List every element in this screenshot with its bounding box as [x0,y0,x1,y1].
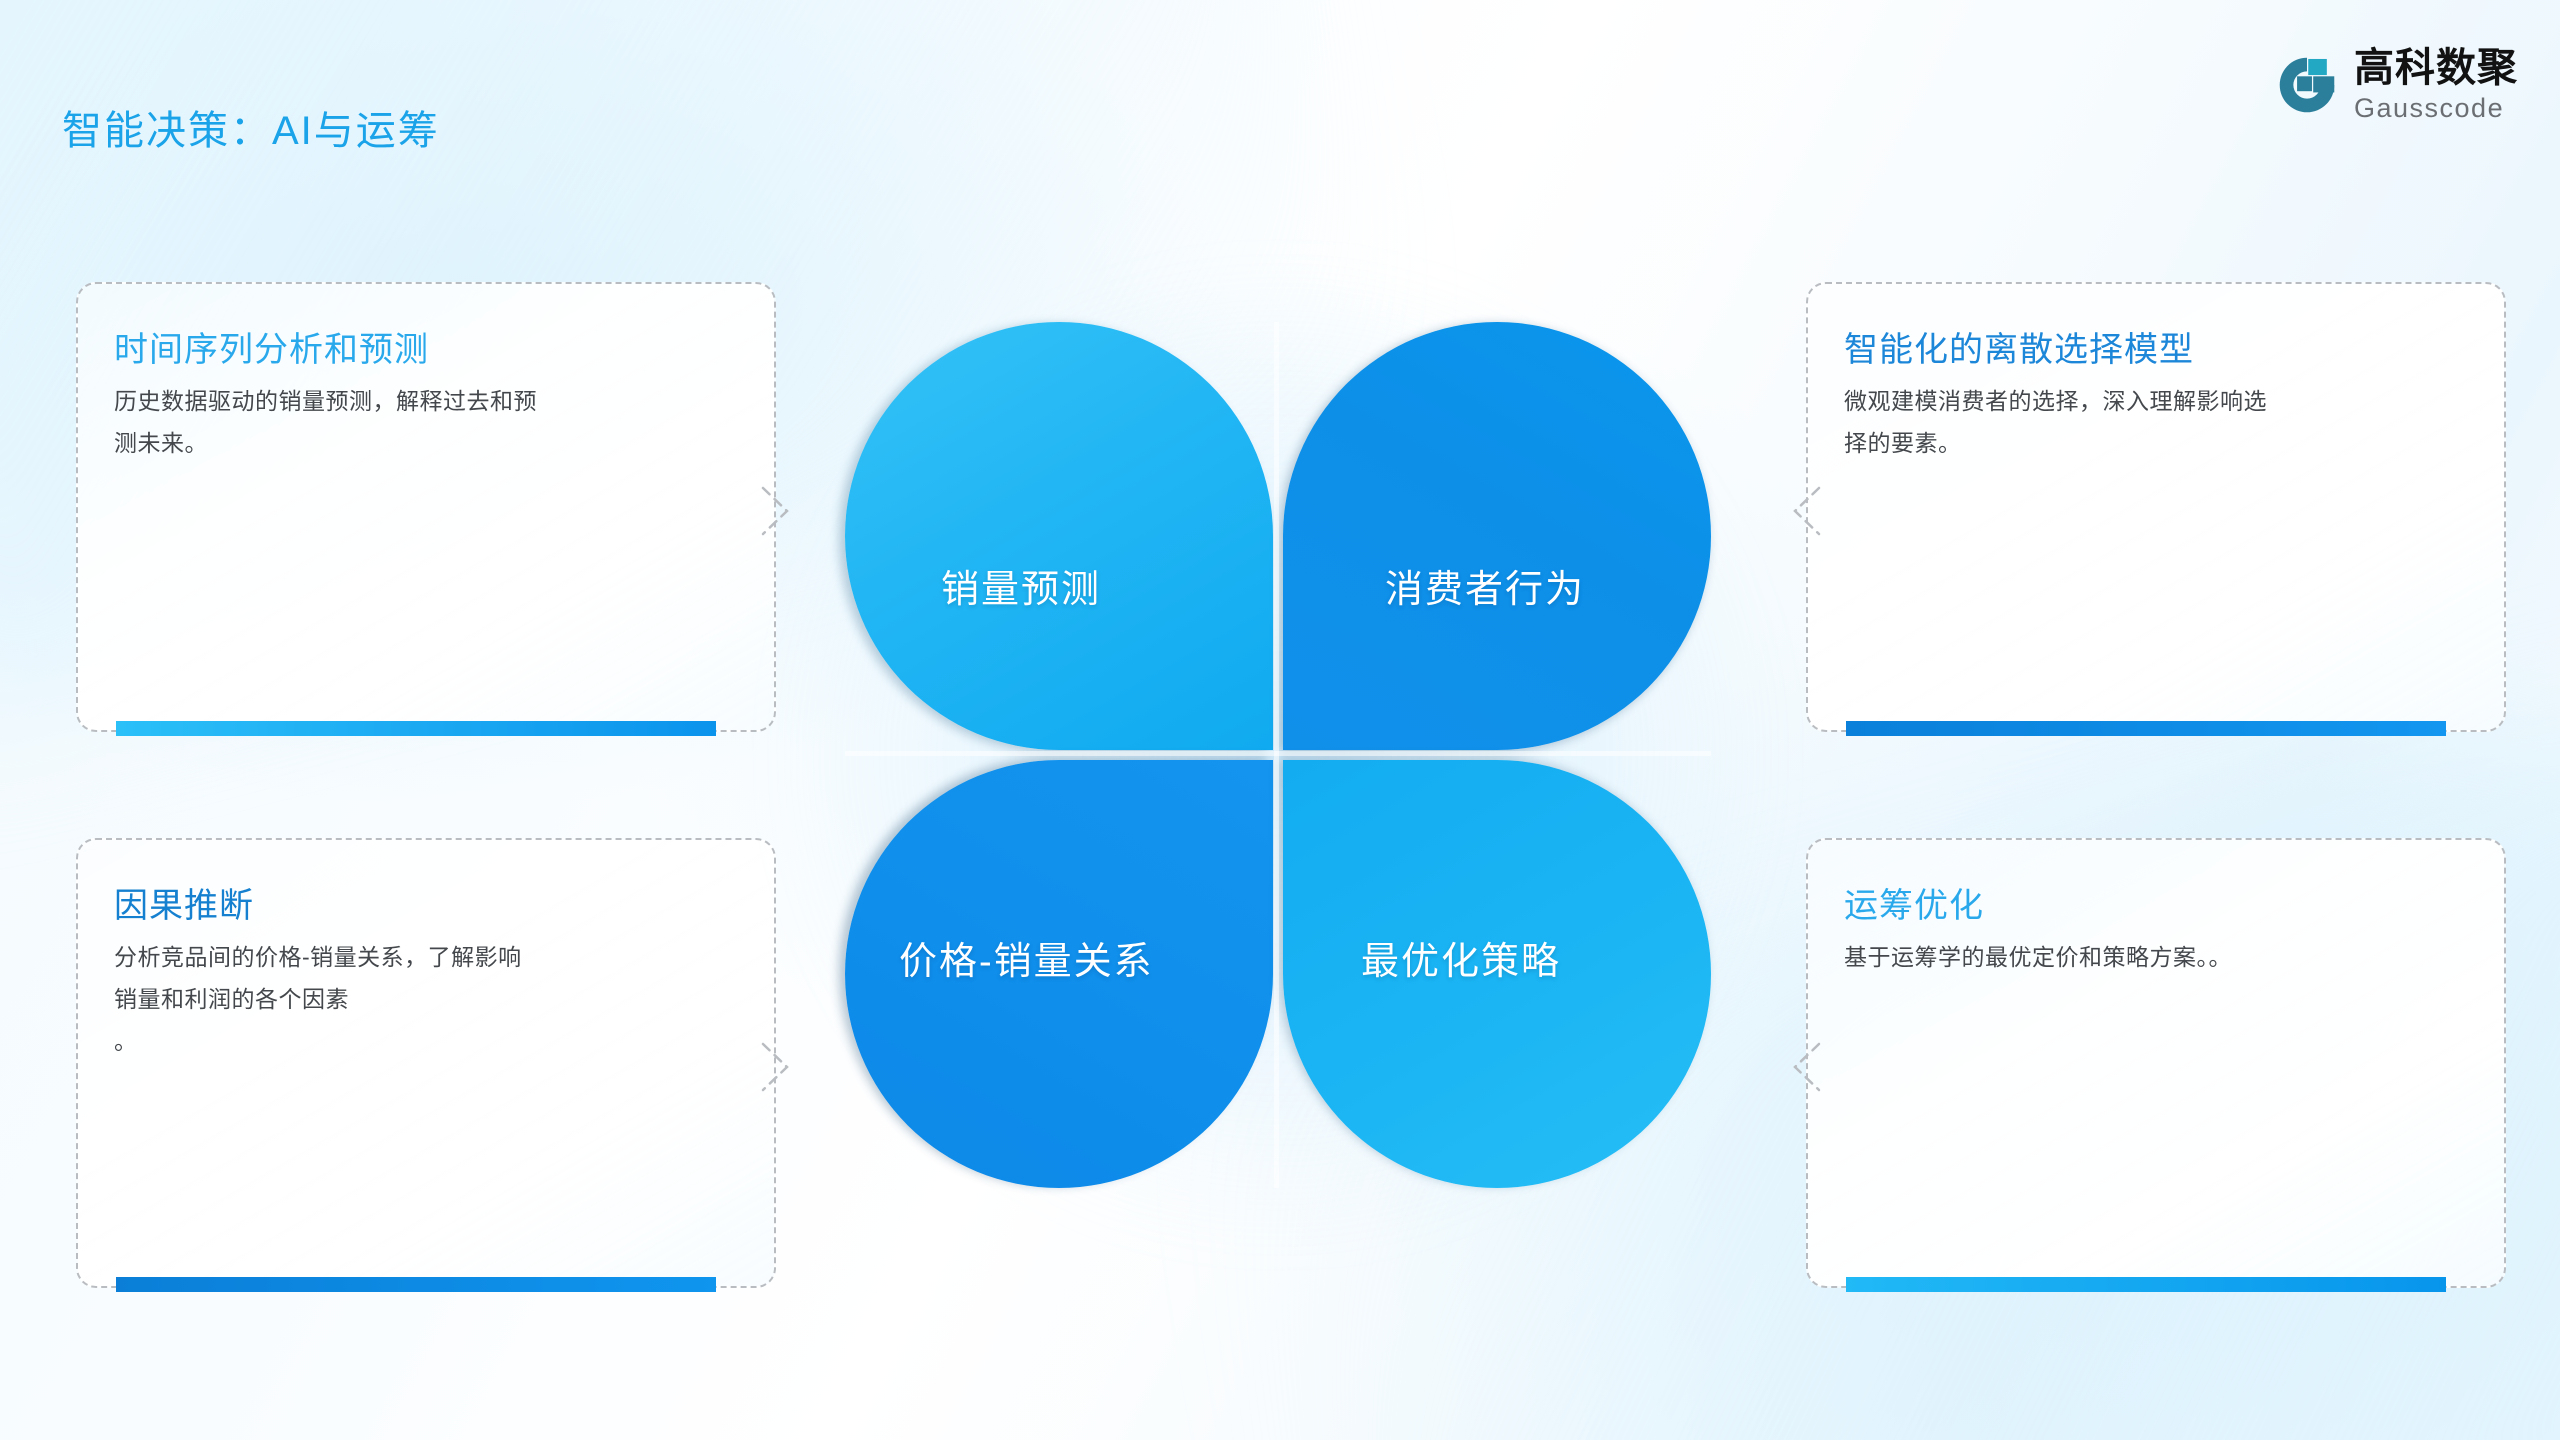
petal-consumer-behavior[interactable]: 消费者行为 [1283,322,1711,750]
card-title: 时间序列分析和预测 [114,322,429,371]
gausscode-mark-icon [2276,54,2338,116]
card-title: 智能化的离散选择模型 [1844,322,2194,371]
card-pointer-arrow-left [1789,484,1823,538]
petal-seam-horizontal [845,751,1711,756]
card-accent-bar [116,1277,716,1292]
logo-name-cn: 高科数聚 [2354,48,2518,88]
petal-seam-vertical [1274,322,1279,1188]
card-accent-bar [1846,1277,2446,1292]
logo-wordmark: 高科数聚 Gausscode [2354,48,2518,122]
slide-canvas: 智能决策：AI与运筹 高科数聚 Gausscode 时间序列分析和预测 历史数据… [0,0,2560,1440]
card-accent-bar [116,721,716,736]
petal-price-sales-relation[interactable]: 价格-销量关系 [845,760,1273,1188]
petal-optimal-strategy[interactable]: 最优化策略 [1283,760,1711,1188]
card-body: 分析竞品间的价格-销量关系，了解影响 销量和利润的各个因素 。 [114,936,754,1062]
card-pointer-arrow-left [1789,1040,1823,1094]
info-card-operations-research[interactable]: 运筹优化 基于运筹学的最优定价和策略方案。。 [1806,838,2506,1288]
four-petal-diagram: 销量预测 消费者行为 价格-销量关系 最优化策略 [845,322,1711,1188]
info-card-discrete-choice[interactable]: 智能化的离散选择模型 微观建模消费者的选择，深入理解影响选 择的要素。 [1806,282,2506,732]
card-body: 微观建模消费者的选择，深入理解影响选 择的要素。 [1844,380,2484,464]
logo-name-en: Gausscode [2354,95,2518,122]
brand-logo: 高科数聚 Gausscode [2276,48,2518,122]
petal-label: 价格-销量关系 [899,930,1154,985]
petal-label: 最优化策略 [1361,930,1561,985]
petal-label: 消费者行为 [1385,558,1585,613]
info-card-time-series[interactable]: 时间序列分析和预测 历史数据驱动的销量预测，解释过去和预 测未来。 [76,282,776,732]
info-card-causal-inference[interactable]: 因果推断 分析竞品间的价格-销量关系，了解影响 销量和利润的各个因素 。 [76,838,776,1288]
card-accent-bar [1846,721,2446,736]
petal-label: 销量预测 [941,558,1101,613]
petal-sales-forecast[interactable]: 销量预测 [845,322,1273,750]
card-title: 因果推断 [114,878,254,927]
card-title: 运筹优化 [1844,878,1984,927]
page-title: 智能决策：AI与运筹 [62,98,440,156]
card-body: 基于运筹学的最优定价和策略方案。。 [1844,936,2484,978]
card-body: 历史数据驱动的销量预测，解释过去和预 测未来。 [114,380,754,464]
